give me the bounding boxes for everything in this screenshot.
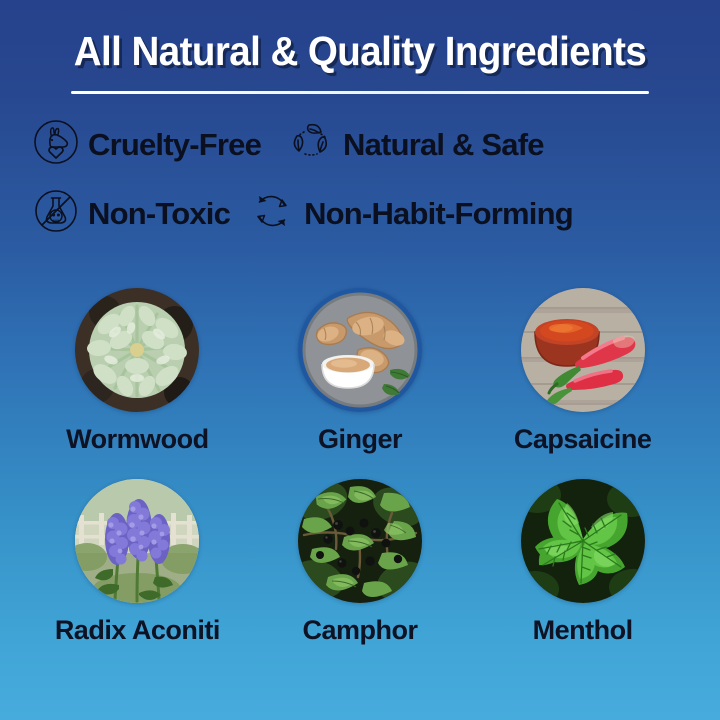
- ingredient-name: Wormwood: [66, 424, 208, 455]
- badge-label: Natural & Safe: [343, 129, 544, 160]
- wormwood-plant-photo: [75, 288, 199, 412]
- ingredient-name: Capsaicine: [514, 424, 652, 455]
- aconite-blue-flowers-photo: [75, 479, 199, 603]
- badge-row-1: Cruelty-Free: [22, 116, 698, 173]
- ingredient-card[interactable]: Capsaicine: [471, 288, 694, 455]
- badge-label: Cruelty-Free: [88, 129, 261, 160]
- header: All Natural & Quality Ingredients: [0, 0, 720, 94]
- badge-label: Non-Habit-Forming: [304, 198, 573, 229]
- badge-non-toxic: Non-Toxic: [30, 185, 230, 242]
- circular-arrows-icon: [246, 185, 298, 242]
- no-toxic-flask-icon: [30, 185, 82, 242]
- badge-non-habit-forming: Non-Habit-Forming: [246, 185, 573, 242]
- ingredient-card[interactable]: Wormwood: [26, 288, 249, 455]
- ingredient-name: Ginger: [318, 424, 402, 455]
- title-divider: [71, 91, 649, 94]
- ingredient-card[interactable]: Radix Aconiti: [26, 479, 249, 646]
- chili-peppers-paprika-photo: [521, 288, 645, 412]
- badge-cruelty-free: Cruelty-Free: [30, 116, 261, 173]
- rabbit-heart-icon: [30, 116, 82, 173]
- ginger-root-powder-photo: [298, 288, 422, 412]
- badge-section: Cruelty-Free: [0, 116, 720, 242]
- ingredient-card[interactable]: Camphor: [249, 479, 472, 646]
- badge-natural-safe: Natural & Safe: [285, 116, 544, 173]
- ingredient-card[interactable]: Menthol: [471, 479, 694, 646]
- badge-row-2: Non-Toxic Non-Habit-Forming: [22, 185, 698, 242]
- page-title: All Natural & Quality Ingredients: [22, 28, 699, 75]
- ingredient-card[interactable]: Ginger: [249, 288, 472, 455]
- ingredient-name: Radix Aconiti: [55, 615, 220, 646]
- badge-label: Non-Toxic: [88, 198, 230, 229]
- ingredient-name: Menthol: [533, 615, 633, 646]
- camphor-leaves-berries-photo: [298, 479, 422, 603]
- three-leaves-icon: [285, 116, 337, 173]
- ingredient-name: Camphor: [302, 615, 417, 646]
- ingredient-grid: Wormwood: [0, 288, 720, 646]
- mint-leaves-photo: [521, 479, 645, 603]
